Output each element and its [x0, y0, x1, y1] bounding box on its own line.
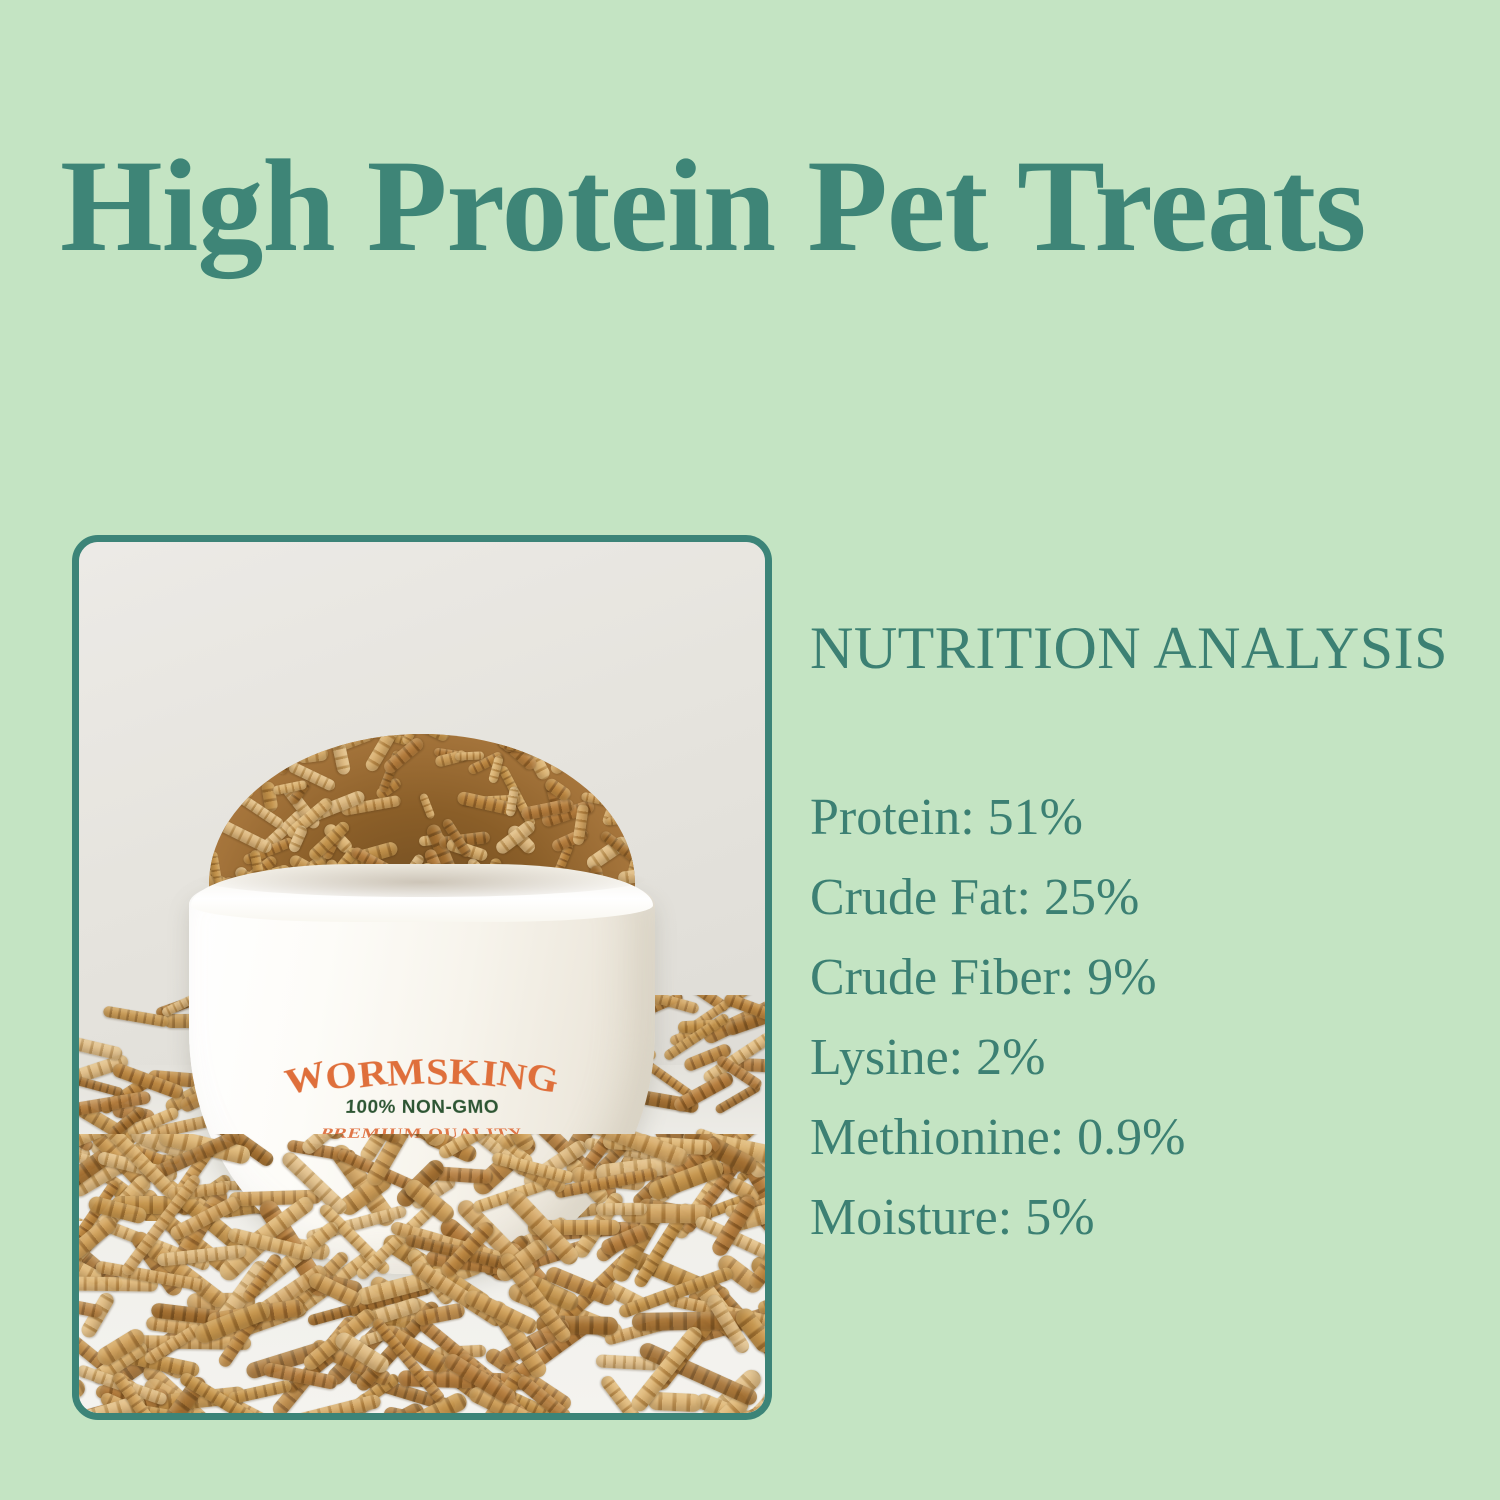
- mealworm: [214, 817, 273, 854]
- nutrition-list: Protein: 51%Crude Fat: 25%Crude Fiber: 9…: [810, 778, 1470, 1258]
- bowl-brand-logo: WORMSKING 100% NON-GMO PREMIUM QUALITY: [245, 1052, 600, 1145]
- page-title: High Protein Pet Treats: [60, 140, 1460, 272]
- nutrition-item: Crude Fat: 25%: [810, 858, 1470, 938]
- brand-name-text: WORMSKING: [241, 1054, 604, 1091]
- product-photo: WORMSKING 100% NON-GMO PREMIUM QUALITY: [79, 542, 765, 1413]
- mealworm: [419, 793, 436, 820]
- non-gmo-text: 100% NON-GMO: [243, 1097, 601, 1118]
- nutrition-item: Protein: 51%: [810, 778, 1470, 858]
- mealworm: [596, 1203, 647, 1216]
- mealworm: [455, 751, 485, 761]
- nutrition-item: Lysine: 2%: [810, 1018, 1470, 1098]
- mealworm: [79, 1376, 88, 1413]
- nutrition-item: Methionine: 0.9%: [810, 1098, 1470, 1178]
- nutrition-analysis-panel: NUTRITION ANALYSIS Protein: 51%Crude Fat…: [810, 618, 1470, 1258]
- nutrition-item: Moisture: 5%: [810, 1178, 1470, 1258]
- mealworm: [232, 790, 284, 829]
- product-photo-frame: WORMSKING 100% NON-GMO PREMIUM QUALITY: [72, 535, 772, 1420]
- nutrition-item: Crude Fiber: 9%: [810, 938, 1470, 1018]
- mealworm: [648, 1392, 703, 1413]
- mealworm: [79, 1032, 124, 1061]
- mealworm-pile-foreground: [79, 1134, 765, 1413]
- bowl-rim-shadow: [198, 860, 646, 898]
- mealworm: [760, 995, 765, 996]
- nutrition-heading: NUTRITION ANALYSIS: [810, 618, 1470, 678]
